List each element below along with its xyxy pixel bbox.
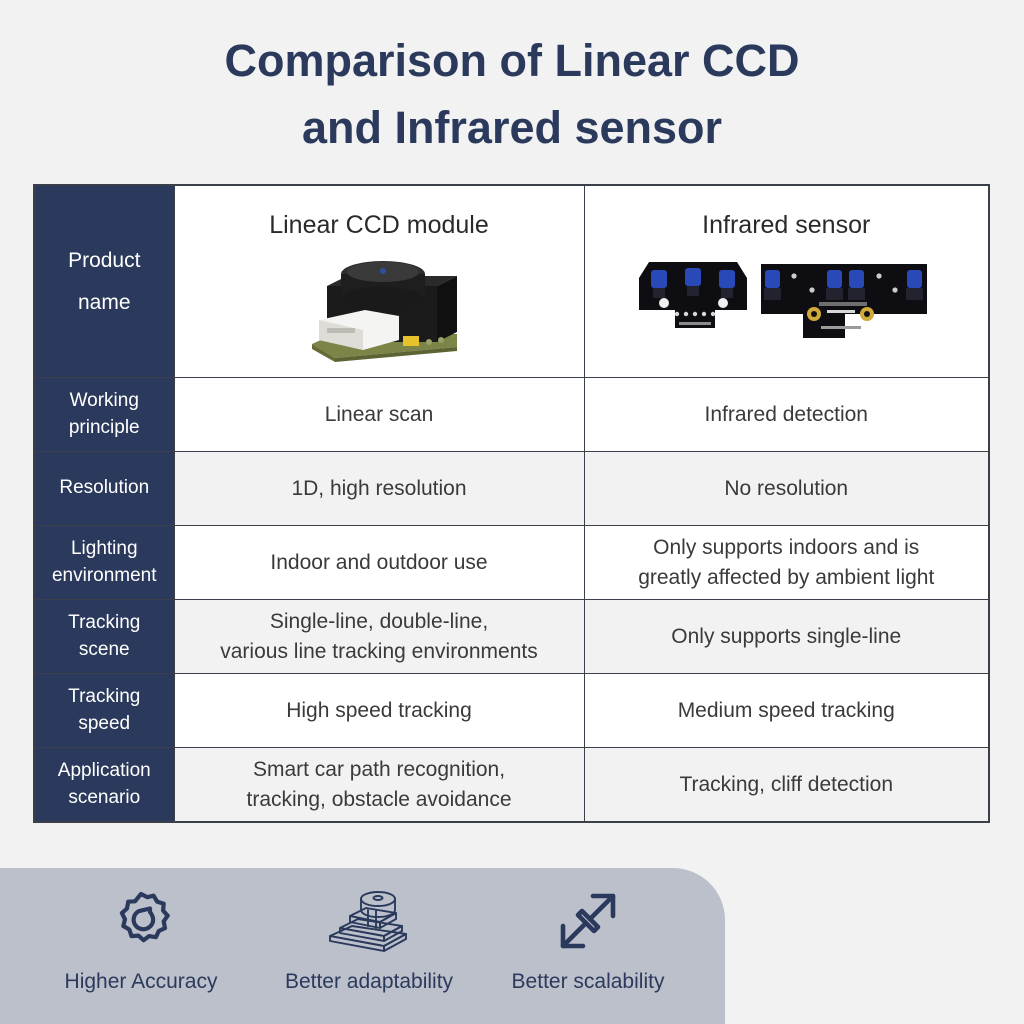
table-row-lighting-environment: Lighting environment Indoor and outdoor … xyxy=(34,526,989,600)
cell-ir-working-principle: Infrared detection xyxy=(584,378,989,452)
table-row-resolution: Resolution 1D, high resolution No resolu… xyxy=(34,452,989,526)
table-row-application-scenario: Application scenario Smart car path reco… xyxy=(34,748,989,823)
table-row-product-name: Product name Linear CCD module xyxy=(34,185,989,378)
cell-text-line-1: Single-line, double-line, xyxy=(175,607,584,637)
comparison-table: Product name Linear CCD module xyxy=(33,184,990,823)
table-row-working-principle: Working principle Linear scan Infrared d… xyxy=(34,378,989,452)
row-label-line-1: Application xyxy=(35,758,174,784)
feature-highlights-panel: Higher Accuracy xyxy=(0,868,725,1024)
infrared-sensor-image xyxy=(631,248,941,370)
ir-board-large xyxy=(761,264,927,338)
cell-ir-application-scenario: Tracking, cliff detection xyxy=(584,748,989,823)
linear-ccd-module-illustration xyxy=(279,248,479,368)
row-label-line-1: Product xyxy=(35,240,174,282)
page-title-line-2: and Infrared sensor xyxy=(0,95,1024,162)
row-label-lighting-environment: Lighting environment xyxy=(34,526,174,600)
row-label-line-2: name xyxy=(35,282,174,324)
row-label-tracking-scene: Tracking scene xyxy=(34,600,174,674)
page-title: Comparison of Linear CCD and Infrared se… xyxy=(0,28,1024,161)
row-label-line-1: Resolution xyxy=(35,475,174,501)
row-label-line-2: scene xyxy=(35,637,174,663)
feature-better-scalability: Better scalability xyxy=(480,868,696,994)
cell-ccd-working-principle: Linear scan xyxy=(174,378,584,452)
column-header-ir: Infrared sensor xyxy=(702,208,870,244)
row-label-product-name: Product name xyxy=(34,185,174,378)
feature-label: Higher Accuracy xyxy=(65,970,218,994)
row-label-line-2: principle xyxy=(35,415,174,441)
table-row-tracking-scene: Tracking scene Single-line, double-line,… xyxy=(34,600,989,674)
row-label-line-1: Tracking xyxy=(35,610,174,636)
cell-ccd-product: Linear CCD module xyxy=(174,185,584,378)
cell-ir-resolution: No resolution xyxy=(584,452,989,526)
row-label-working-principle: Working principle xyxy=(34,378,174,452)
row-label-resolution: Resolution xyxy=(34,452,174,526)
feature-better-adaptability: Better adaptability xyxy=(258,868,480,994)
page-title-line-1: Comparison of Linear CCD xyxy=(0,28,1024,95)
row-label-line-2: environment xyxy=(35,563,174,589)
cell-text-line-2: various line tracking environments xyxy=(175,637,584,667)
cell-ccd-tracking-speed: High speed tracking xyxy=(174,674,584,748)
cell-ccd-resolution: 1D, high resolution xyxy=(174,452,584,526)
row-label-application-scenario: Application scenario xyxy=(34,748,174,823)
cell-text-line-1: Smart car path recognition, xyxy=(175,755,584,785)
cell-text-line-2: greatly affected by ambient light xyxy=(585,563,989,593)
feature-list: Higher Accuracy xyxy=(0,868,725,1024)
column-header-ccd: Linear CCD module xyxy=(269,208,489,244)
feature-label: Better scalability xyxy=(512,970,665,994)
expand-arrows-icon xyxy=(557,884,619,958)
row-label-tracking-speed: Tracking speed xyxy=(34,674,174,748)
cell-ccd-application-scenario: Smart car path recognition, tracking, ob… xyxy=(174,748,584,823)
cell-ir-tracking-scene: Only supports single-line xyxy=(584,600,989,674)
gear-drop-icon xyxy=(108,884,174,958)
row-label-line-2: speed xyxy=(35,711,174,737)
feature-label: Better adaptability xyxy=(285,970,453,994)
cell-text-line-1: Only supports indoors and is xyxy=(585,533,989,563)
cell-ir-product: Infrared sensor xyxy=(584,185,989,378)
row-label-line-1: Working xyxy=(35,388,174,414)
cell-ccd-tracking-scene: Single-line, double-line, various line t… xyxy=(174,600,584,674)
cell-ir-tracking-speed: Medium speed tracking xyxy=(584,674,989,748)
feature-higher-accuracy: Higher Accuracy xyxy=(24,868,258,994)
cell-ir-lighting-environment: Only supports indoors and is greatly aff… xyxy=(584,526,989,600)
table-row-tracking-speed: Tracking speed High speed tracking Mediu… xyxy=(34,674,989,748)
cell-text-line-2: tracking, obstacle avoidance xyxy=(175,785,584,815)
row-label-line-1: Lighting xyxy=(35,536,174,562)
row-label-line-2: scenario xyxy=(35,785,174,811)
cell-ccd-lighting-environment: Indoor and outdoor use xyxy=(174,526,584,600)
row-label-line-1: Tracking xyxy=(35,684,174,710)
ir-board-small xyxy=(639,262,747,328)
infrared-sensor-boards-illustration xyxy=(631,252,941,364)
sensor-module-icon xyxy=(326,884,412,958)
ccd-module-image xyxy=(279,248,479,370)
